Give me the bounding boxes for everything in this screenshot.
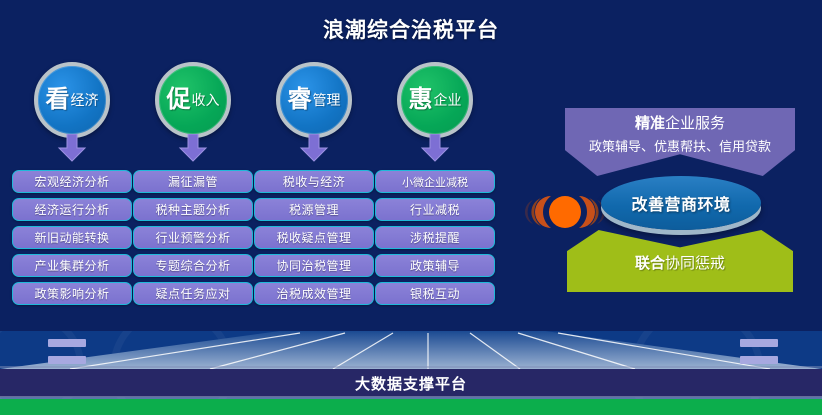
pillar-kan-jingji: 看 经济 宏观经济分析 经济运行分析 新旧动能转换 产业集群分析 政策影响分析 (12, 62, 132, 140)
top-banner-title-bold: 精准 (635, 115, 665, 132)
presentation-slide: 浪潮综合治税平台 看 经济 宏观经济分析 经济运行分析 新旧动能转换 产业集群分… (0, 0, 822, 415)
green-accent-bar (0, 399, 822, 415)
pillar-item-list: 税收与经济 税源管理 税收疑点管理 协同治税管理 治税成效管理 (254, 170, 374, 310)
list-item[interactable]: 专题综合分析 (133, 254, 253, 277)
list-item[interactable]: 税收与经济 (254, 170, 374, 193)
bottom-banner-joint-punishment[interactable]: 联合协同惩戒 (567, 230, 793, 292)
pillar-circle-small-label: 管理 (313, 93, 341, 107)
pillar-circle-big-char: 惠 (409, 88, 433, 112)
list-item[interactable]: 涉税提醒 (375, 226, 495, 249)
list-item[interactable]: 税收疑点管理 (254, 226, 374, 249)
list-item[interactable]: 疑点任务应对 (133, 282, 253, 305)
list-item[interactable]: 政策影响分析 (12, 282, 132, 305)
list-item[interactable]: 税种主题分析 (133, 198, 253, 221)
pillar-circle-hui-qiye[interactable]: 惠 企业 (397, 62, 473, 138)
list-item[interactable]: 协同治税管理 (254, 254, 374, 277)
big-data-platform-band[interactable]: 大数据支撑平台 (0, 369, 822, 397)
top-banner-subtitle: 政策辅导、优惠帮扶、信用贷款 (565, 136, 795, 155)
list-item[interactable]: 银税互动 (375, 282, 495, 305)
center-ellipse-label: 改善营商环境 (631, 191, 730, 215)
pillar-circle-wrap: 惠 企业 (375, 62, 495, 140)
center-ellipse-business-environment[interactable]: 改善营商环境 (601, 176, 761, 230)
down-arrow-icon (299, 134, 329, 162)
list-item[interactable]: 治税成效管理 (254, 282, 374, 305)
list-item[interactable]: 政策辅导 (375, 254, 495, 277)
pillar-circle-rui-guanli[interactable]: 睿 管理 (276, 62, 352, 138)
pillar-item-list: 漏征漏管 税种主题分析 行业预警分析 专题综合分析 疑点任务应对 (133, 170, 253, 310)
list-item[interactable]: 小微企业减税 (375, 170, 495, 193)
big-data-platform-label: 大数据支撑平台 (355, 373, 467, 394)
bottom-banner-label: 联合协同惩戒 (567, 256, 793, 271)
top-banner-title-rest: 企业服务 (665, 115, 725, 132)
band-top-divider (0, 366, 822, 368)
list-item[interactable]: 行业预警分析 (133, 226, 253, 249)
pillar-item-list: 宏观经济分析 经济运行分析 新旧动能转换 产业集群分析 政策影响分析 (12, 170, 132, 310)
left-tick-bar-top (48, 339, 86, 347)
pillar-circle-small-label: 经济 (71, 93, 99, 107)
bottom-banner-label-bold: 联合 (635, 255, 665, 272)
top-banner-precision-service[interactable]: 精准企业服务 政策辅导、优惠帮扶、信用贷款 (565, 108, 795, 176)
list-item[interactable]: 宏观经济分析 (12, 170, 132, 193)
down-arrow-icon (178, 134, 208, 162)
list-item[interactable]: 产业集群分析 (12, 254, 132, 277)
list-item[interactable]: 新旧动能转换 (12, 226, 132, 249)
top-banner-title: 精准企业服务 (565, 116, 795, 133)
pillar-circle-wrap: 促 收入 (133, 62, 253, 140)
pillar-hui-qiye: 惠 企业 小微企业减税 行业减税 涉税提醒 政策辅导 银税互动 (375, 62, 495, 140)
right-tick-bar-top (740, 339, 778, 347)
list-item[interactable]: 经济运行分析 (12, 198, 132, 221)
page-title: 浪潮综合治税平台 (0, 14, 822, 44)
signal-waves-icon (515, 190, 615, 235)
pillar-circle-big-char: 促 (167, 88, 191, 112)
list-item[interactable]: 行业减税 (375, 198, 495, 221)
pillar-circle-cu-shouru[interactable]: 促 收入 (155, 62, 231, 138)
list-item[interactable]: 漏征漏管 (133, 170, 253, 193)
pillars-group: 看 经济 宏观经济分析 经济运行分析 新旧动能转换 产业集群分析 政策影响分析 … (12, 62, 492, 320)
down-arrow-icon (420, 134, 450, 162)
pillar-circle-wrap: 看 经济 (12, 62, 132, 140)
left-tick-bar-bottom (48, 356, 86, 364)
pillar-cu-shouru: 促 收入 漏征漏管 税种主题分析 行业预警分析 专题综合分析 疑点任务应对 (133, 62, 253, 140)
perspective-lines (0, 331, 822, 371)
pillar-item-list: 小微企业减税 行业减税 涉税提醒 政策辅导 银税互动 (375, 170, 495, 310)
pillar-circle-wrap: 睿 管理 (254, 62, 374, 140)
right-tick-bar-bottom (740, 356, 778, 364)
bottom-banner-label-rest: 协同惩戒 (665, 255, 725, 272)
pillar-circle-small-label: 企业 (434, 93, 462, 107)
down-arrow-icon (57, 134, 87, 162)
pillar-circle-small-label: 收入 (192, 93, 220, 107)
list-item[interactable]: 税源管理 (254, 198, 374, 221)
pillar-circle-kan-jingji[interactable]: 看 经济 (34, 62, 110, 138)
right-panel: 精准企业服务 政策辅导、优惠帮扶、信用贷款 改善营商环境 联合协同惩戒 (505, 100, 815, 320)
pillar-circle-big-char: 看 (46, 88, 70, 112)
pillar-rui-guanli: 睿 管理 税收与经济 税源管理 税收疑点管理 协同治税管理 治税成效管理 (254, 62, 374, 140)
pillar-circle-big-char: 睿 (288, 88, 312, 112)
